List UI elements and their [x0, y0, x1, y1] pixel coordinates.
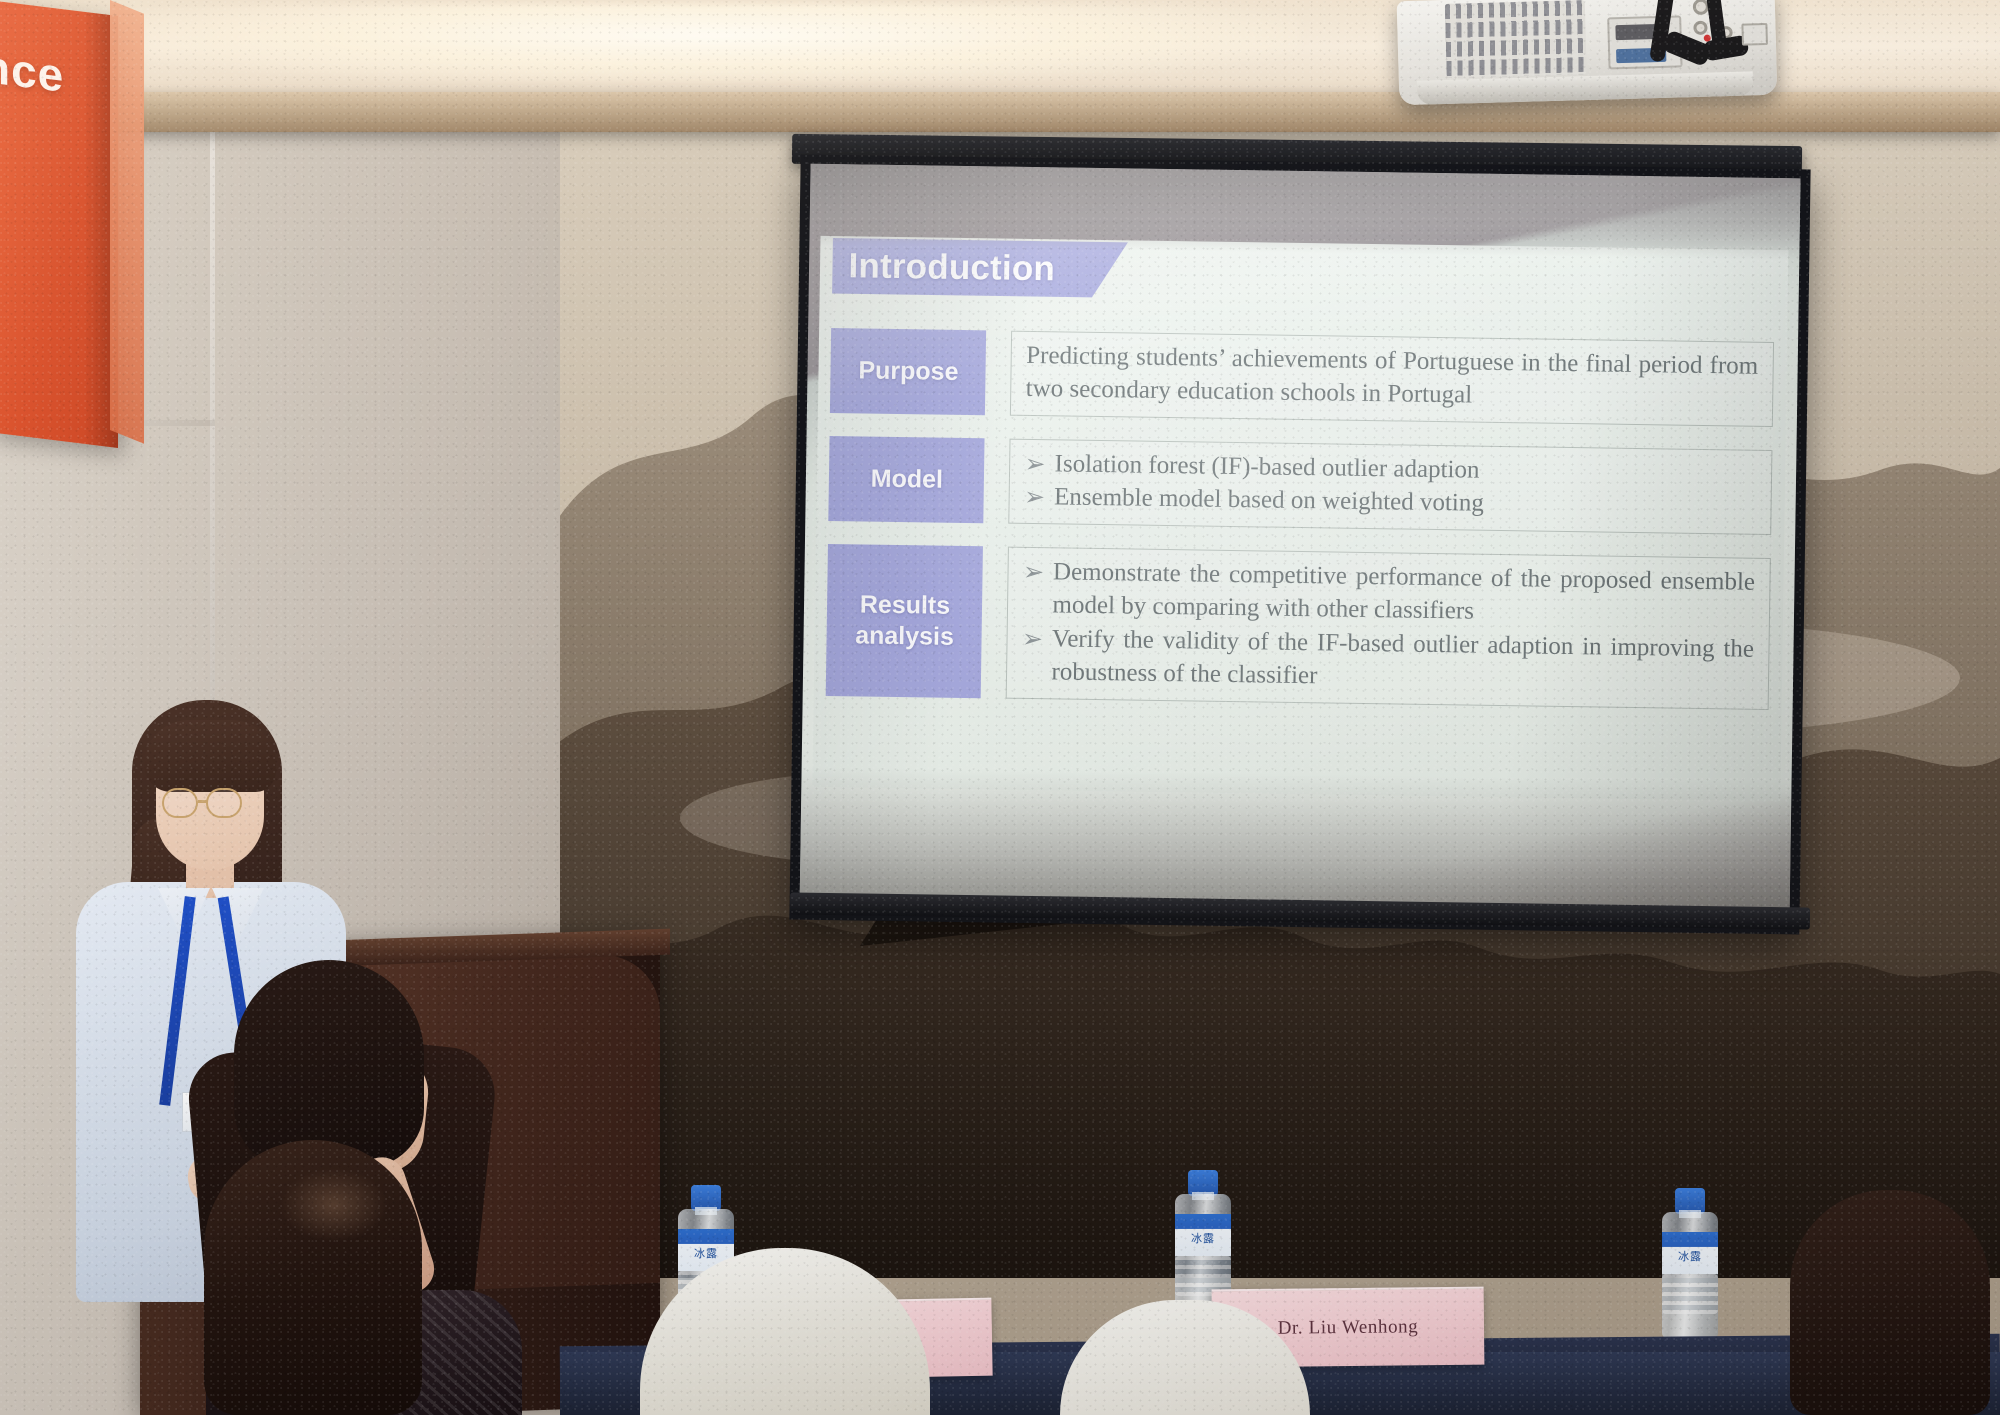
audience-head — [1060, 1300, 1310, 1415]
audience-member-foreground-lower-left — [160, 1140, 460, 1415]
results-bullet-list: ➢ Demonstrate the competitive performanc… — [1021, 554, 1755, 699]
presenter-fringe — [144, 720, 276, 792]
bullet-arrow-icon: ➢ — [1024, 480, 1054, 514]
audience-head — [234, 960, 424, 1168]
audience-head — [640, 1248, 930, 1415]
ceiling-projector — [1397, 0, 1778, 105]
bottle-label-text: 冰露 — [1175, 1230, 1231, 1246]
row-tag-label: Model — [871, 463, 944, 495]
ceiling-bulkhead — [0, 92, 2000, 132]
row-tag-label-line2: analysis — [855, 620, 954, 652]
row-tag-purpose: Purpose — [830, 328, 986, 415]
conference-room-photo: nce Introduction — [0, 0, 2000, 1415]
slide-rows: Purpose Predicting students’ achievement… — [826, 328, 1774, 733]
row-tag-label-line1: Results — [860, 589, 951, 621]
row-body-model: ➢ Isolation forest (IF)-based outlier ad… — [1009, 438, 1772, 534]
audience-head — [1790, 1190, 1990, 1415]
screen-surface: Introduction Purpose Predicting students… — [800, 164, 1801, 924]
bullet-arrow-icon: ➢ — [1024, 446, 1054, 480]
ceiling-light — [120, 4, 1300, 82]
bullet-arrow-icon: ➢ — [1022, 621, 1052, 655]
slide-row-purpose: Purpose Predicting students’ achievement… — [830, 328, 1773, 427]
slide-row-results-analysis: Results analysis ➢ Demonstrate the compe… — [826, 544, 1770, 710]
audience-member-foreground-right — [1790, 1190, 2000, 1415]
list-item: ➢ Verify the validity of the IF-based ou… — [1021, 621, 1754, 699]
page-title: Introduction — [832, 246, 1055, 289]
audience-member-foreground-center-right — [1060, 1300, 1310, 1415]
row-body-purpose: Predicting students’ achievements of Por… — [1010, 330, 1773, 426]
bullet-text: Demonstrate the competitive performance … — [1052, 555, 1755, 632]
purpose-paragraph: Predicting students’ achievements of Por… — [1025, 338, 1758, 416]
water-bottle: 冰露 — [1662, 1188, 1718, 1338]
screen-top-shading — [809, 164, 1800, 261]
projector-power-socket — [1741, 23, 1768, 46]
slide: Introduction Purpose Predicting students… — [812, 235, 1788, 801]
glasses-left-lens-icon — [162, 788, 198, 818]
row-tag-label: Purpose — [858, 355, 958, 387]
model-bullet-list: ➢ Isolation forest (IF)-based outlier ad… — [1024, 446, 1757, 524]
bottle-label-text: 冰露 — [1662, 1248, 1718, 1264]
row-tag-model: Model — [829, 436, 985, 523]
row-body-results-analysis: ➢ Demonstrate the competitive performanc… — [1006, 546, 1770, 709]
glasses-right-lens-icon — [206, 788, 242, 818]
audience-head — [204, 1140, 422, 1415]
audience-member-foreground-center — [640, 1248, 930, 1415]
projector-knob-b — [1693, 21, 1707, 35]
projection-screen: Introduction Purpose Predicting students… — [789, 155, 1810, 935]
row-tag-results-analysis: Results analysis — [826, 544, 983, 698]
audience-hair-sheen — [280, 1168, 388, 1242]
bullet-arrow-icon: ➢ — [1023, 554, 1053, 588]
bottle-label: 冰露 — [1175, 1214, 1231, 1256]
projector-vent-bars — [1445, 0, 1587, 78]
bullet-text: Verify the validity of the IF-based outl… — [1051, 622, 1754, 699]
list-item: ➢ Demonstrate the competitive performanc… — [1022, 554, 1755, 632]
bottle-label: 冰露 — [1662, 1232, 1718, 1274]
glasses-bridge — [198, 800, 208, 803]
bottle-ribs — [1662, 1274, 1718, 1314]
slide-row-model: Model ➢ Isolation forest (IF)-based outl… — [829, 436, 1772, 535]
